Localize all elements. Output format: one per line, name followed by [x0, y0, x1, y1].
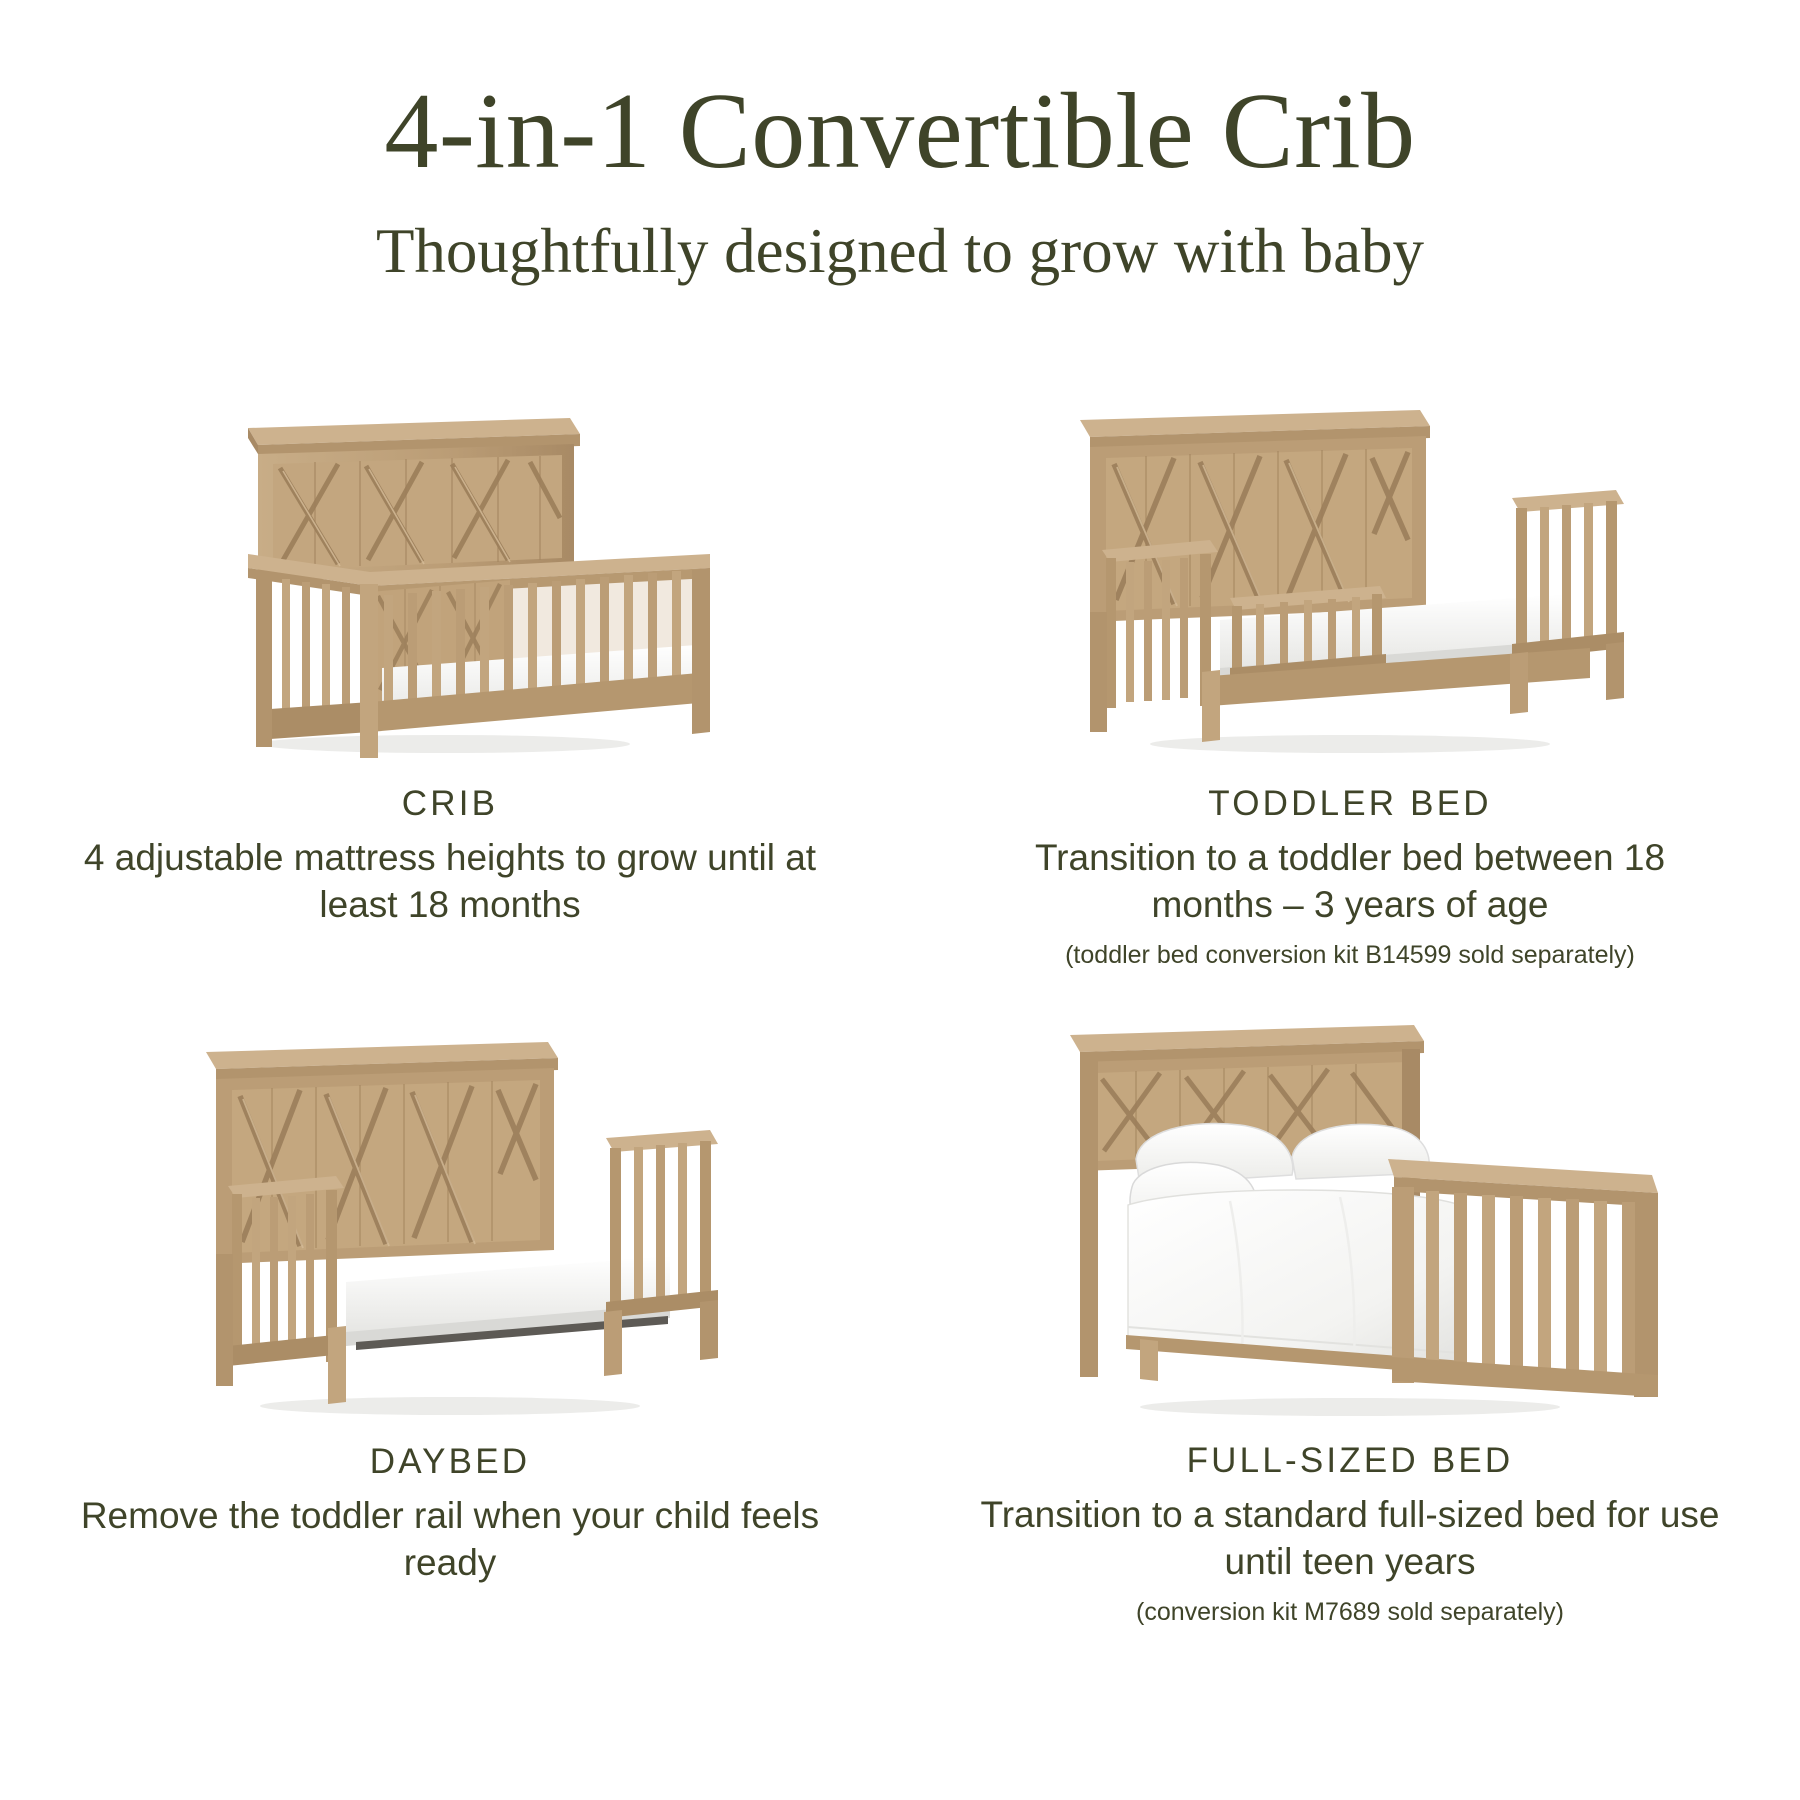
post-foot-left	[1392, 1187, 1414, 1383]
post-head-left	[1080, 1059, 1098, 1309]
panel-crib: CRIB 4 adjustable mattress heights to gr…	[0, 372, 900, 1000]
footboard	[1388, 1159, 1658, 1397]
configuration-grid: CRIB 4 adjustable mattress heights to gr…	[0, 372, 1800, 1628]
leg-head-left	[216, 1254, 233, 1386]
header: 4-in-1 Convertible Crib Thoughtfully des…	[0, 0, 1800, 287]
left-end-slats	[262, 576, 350, 717]
leg-front-left	[1202, 670, 1220, 742]
crib-illustration	[40, 372, 860, 772]
panel-body: Transition to a toddler bed between 18 m…	[970, 834, 1730, 929]
leg-mid	[1140, 1339, 1158, 1381]
leg-foot-front	[604, 1310, 622, 1376]
shadow	[1140, 1398, 1560, 1416]
page-title: 4-in-1 Convertible Crib	[0, 72, 1800, 193]
leg-foot-front	[1510, 652, 1528, 714]
leg-head-left	[1080, 1297, 1098, 1377]
panel-fine-print: (conversion kit M7689 sold separately)	[1136, 1596, 1564, 1629]
panel-toddler-bed: TODDLER BED Transition to a toddler bed …	[900, 372, 1800, 1000]
product-infographic: 4-in-1 Convertible Crib Thoughtfully des…	[0, 0, 1800, 1800]
panel-full-sized-bed: FULL-SIZED BED Transition to a standard …	[900, 1000, 1800, 1628]
panel-fine-print: (toddler bed conversion kit B14599 sold …	[1065, 939, 1635, 972]
leg-foot-back	[700, 1300, 718, 1360]
post-foot-right	[1634, 1201, 1658, 1397]
panel-body: Remove the toddler rail when your child …	[70, 1492, 830, 1587]
leg-head-left	[1090, 612, 1107, 732]
panel-label: CRIB	[402, 784, 498, 824]
leg-back-left	[256, 572, 272, 747]
headboard-panel	[232, 1080, 540, 1253]
page-subtitle: Thoughtfully designed to grow with baby	[0, 215, 1800, 287]
leg-foot-back	[1606, 642, 1624, 700]
panel-label: DAYBED	[370, 1442, 531, 1482]
panel-label: TODDLER BED	[1208, 784, 1492, 824]
panel-daybed: DAYBED Remove the toddler rail when your…	[0, 1000, 900, 1628]
leg-front-left	[328, 1326, 346, 1404]
panel-body: 4 adjustable mattress heights to grow un…	[70, 834, 830, 929]
full-sized-bed-illustration	[940, 1000, 1760, 1429]
panel-body: Transition to a standard full-sized bed …	[970, 1491, 1730, 1586]
daybed-illustration	[40, 1000, 860, 1430]
shadow	[260, 1397, 640, 1415]
toddler-bed-illustration	[940, 372, 1760, 772]
leg-front-left	[360, 584, 378, 758]
leg-right	[692, 568, 710, 734]
panel-label: FULL-SIZED BED	[1187, 1441, 1514, 1481]
shadow	[260, 735, 630, 753]
